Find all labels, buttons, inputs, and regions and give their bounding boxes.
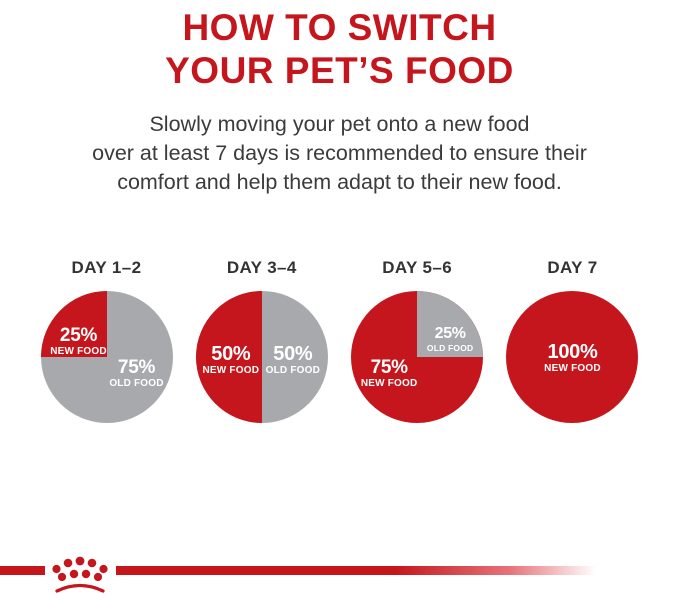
footer-brand-bar bbox=[0, 548, 679, 594]
slice-new-food-1 bbox=[41, 291, 107, 357]
pie-cell-day-5-6: DAY 5–6 25% OLD FOOD 75% NEW FOOD bbox=[345, 258, 490, 424]
slice-new-food-2 bbox=[196, 291, 262, 423]
pie-cell-day-7: DAY 7 100% NEW FOOD bbox=[500, 258, 645, 424]
pie-chart-day-5-6: 25% OLD FOOD 75% NEW FOOD bbox=[350, 290, 484, 424]
pie-chart-day-3-4: 50% NEW FOOD 50% OLD FOOD bbox=[195, 290, 329, 424]
day-label-2: DAY 3–4 bbox=[227, 258, 297, 278]
intro-line-3: comfort and help them adapt to their new… bbox=[8, 168, 671, 197]
footer-bar-right bbox=[116, 566, 596, 575]
pie-chart-row: DAY 1–2 25% NEW FOOD 75% OLD FOOD DAY 3–… bbox=[0, 258, 679, 424]
day-label-3: DAY 5–6 bbox=[382, 258, 452, 278]
pie-chart-day-7: 100% NEW FOOD bbox=[505, 290, 639, 424]
page-title: HOW TO SWITCH YOUR PET’S FOOD bbox=[0, 0, 679, 92]
title-line-2: YOUR PET’S FOOD bbox=[0, 49, 679, 92]
slice-new-food-4 bbox=[506, 291, 638, 423]
day-label-1: DAY 1–2 bbox=[72, 258, 142, 278]
intro-line-1: Slowly moving your pet onto a new food bbox=[8, 110, 671, 139]
day-label-4: DAY 7 bbox=[547, 258, 597, 278]
title-line-1: HOW TO SWITCH bbox=[0, 6, 679, 49]
intro-paragraph: Slowly moving your pet onto a new food o… bbox=[0, 110, 679, 197]
pie-cell-day-1-2: DAY 1–2 25% NEW FOOD 75% OLD FOOD bbox=[34, 258, 179, 424]
slice-old-food-3 bbox=[417, 291, 483, 357]
intro-line-2: over at least 7 days is recommended to e… bbox=[8, 139, 671, 168]
pie-chart-day-1-2: 25% NEW FOOD 75% OLD FOOD bbox=[40, 290, 174, 424]
footer-bar-left bbox=[0, 566, 45, 575]
pie-cell-day-3-4: DAY 3–4 50% NEW FOOD 50% OLD FOOD bbox=[189, 258, 334, 424]
crown-logo-icon bbox=[46, 550, 114, 594]
